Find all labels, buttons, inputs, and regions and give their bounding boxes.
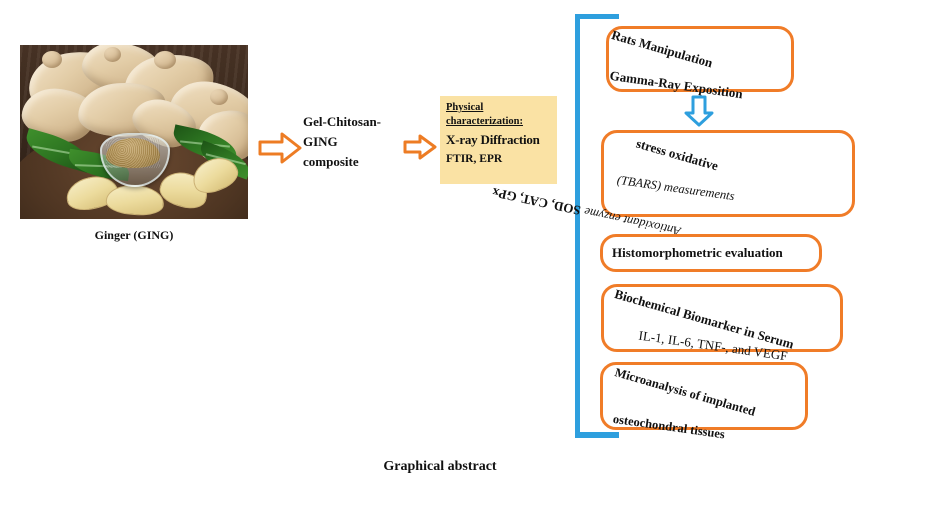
right-block-arrow-icon xyxy=(403,134,437,165)
characterization-sub-methods: FTIR, EPR xyxy=(446,152,557,167)
characterization-main-method: X-ray Diffraction xyxy=(446,131,557,148)
ginger-photo-caption: Ginger (GING) xyxy=(20,228,248,243)
micro-box-line-1: Microanalysis of implanted xyxy=(610,365,683,410)
composite-line-2: GING xyxy=(303,134,338,149)
rats-box-line-1: Rats Manipulation xyxy=(607,27,680,72)
biochemical-biomarker-box: Biochemical Biomarker in Serum IL-1, IL-… xyxy=(601,284,843,352)
composite-line-1: Gel-Chitosan- xyxy=(303,114,381,129)
rats-manipulation-box: Rats Manipulation Gamma-Ray Exposition xyxy=(606,26,794,92)
ginger-powder xyxy=(106,138,160,168)
down-block-arrow-icon xyxy=(683,95,715,127)
ginger-knob xyxy=(154,51,176,69)
right-block-arrow-icon xyxy=(258,132,302,169)
micro-box-line-2: osteochondral tissues xyxy=(611,412,676,444)
ginger-knob xyxy=(104,47,121,62)
oxidative-stress-box: stress oxidative (TBARS) measurements An… xyxy=(601,130,855,217)
histomorphometric-evaluation-box: Histomorphometric evaluation xyxy=(600,234,822,272)
bracket-vertical-bar xyxy=(575,14,580,438)
stress-box-line-2: (TBARS) measurements xyxy=(615,173,680,205)
characterization-heading-line-1: Physical xyxy=(446,101,557,115)
composite-label: Gel-Chitosan- GING composite xyxy=(303,112,413,172)
characterization-heading-line-2: characterization: xyxy=(446,115,557,129)
stress-box-line-1: stress oxidative xyxy=(614,131,704,181)
bracket-top-arm xyxy=(575,14,619,19)
ginger-photo xyxy=(20,45,248,219)
microanalysis-box: Microanalysis of implanted osteochondral… xyxy=(600,362,808,430)
physical-characterization-box: Physical characterization: X-ray Diffrac… xyxy=(440,96,557,184)
ginger-knob xyxy=(210,89,228,105)
biochem-box-line-2: IL-1, IL-6, TNF-, and VEGF xyxy=(611,324,701,360)
stress-box-line-3-bold: SOD, CAT, GPx xyxy=(491,185,582,218)
ginger-knob xyxy=(42,51,62,68)
histo-box-line-1: Histomorphometric evaluation xyxy=(612,245,819,261)
graphical-abstract-caption: Graphical abstract xyxy=(0,459,880,475)
composite-line-3: composite xyxy=(303,154,359,169)
